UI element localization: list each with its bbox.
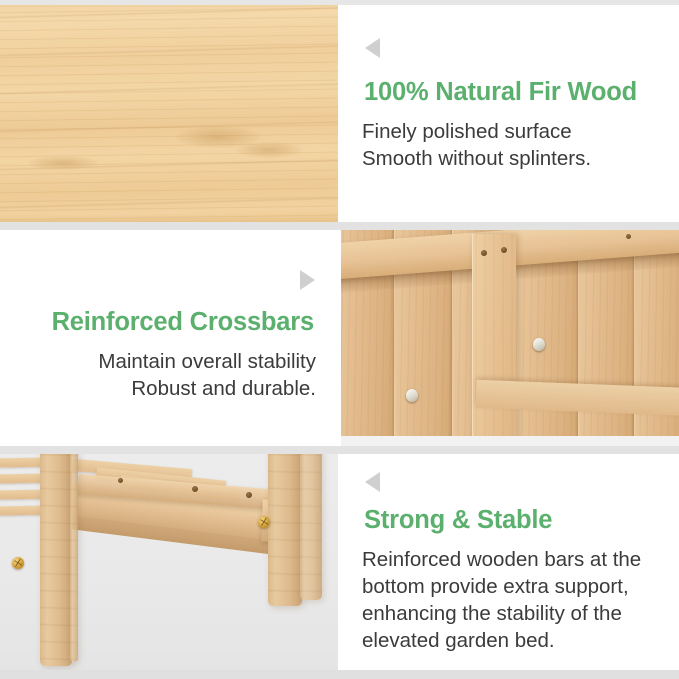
leg-left: [40, 452, 72, 666]
panel-body-line: enhancing the stability of the: [362, 600, 662, 627]
feature-infographic: 100% Natural Fir Wood Finely polished su…: [0, 0, 679, 679]
row-divider-1: [0, 222, 679, 230]
text-panel-natural-fir-wood: 100% Natural Fir Wood Finely polished su…: [340, 0, 679, 226]
wood-knot-3: [236, 142, 302, 158]
plank-screw-lower-left: [406, 389, 418, 402]
wood-knot-2: [28, 156, 98, 170]
fir-wood-grain-image: [0, 0, 340, 226]
top-slat: [0, 490, 44, 500]
photo-cell-legs-support: [0, 452, 340, 679]
triangle-right-icon: [300, 270, 315, 290]
beam-screw-hole: [246, 492, 252, 498]
text-panel-inner: Reinforced Crossbars Maintain overall st…: [0, 226, 340, 452]
text-panel-reinforced-crossbars: Reinforced Crossbars Maintain overall st…: [0, 226, 340, 452]
beam-screw-hole: [192, 486, 198, 492]
reinforcing-crossbar: [472, 234, 516, 452]
panel-body: Finely polished surface Smooth without s…: [362, 118, 591, 172]
plank-wall-crossbar-image: [340, 226, 679, 452]
triangle-left-icon: [365, 472, 380, 492]
photo-cell-fir-wood-grain: [0, 0, 340, 226]
panel-body-line: Maintain overall stability: [98, 348, 316, 375]
row-divider-2: [0, 446, 679, 454]
photo-cell-plank-crossbar: [340, 226, 679, 452]
panel-body: Reinforced wooden bars at the bottom pro…: [362, 546, 662, 654]
leg-left-back: [70, 452, 78, 662]
plank-screw-hole-right-top: [626, 234, 631, 239]
crossbar-screw-hole-top-left: [481, 250, 487, 256]
panel-headline: 100% Natural Fir Wood: [364, 78, 637, 107]
panel-headline: Strong & Stable: [364, 506, 552, 535]
legs-support-bars-image: [0, 452, 340, 679]
panel-body-line: Reinforced wooden bars at the: [362, 546, 662, 573]
leg-right-back: [300, 452, 322, 600]
text-panel-strong-and-stable: Strong & Stable Reinforced wooden bars a…: [340, 452, 679, 679]
brass-screw-left-leg: [12, 557, 24, 569]
panel-body-line: Robust and durable.: [98, 375, 316, 402]
panel-body-line: Smooth without splinters.: [362, 145, 591, 172]
column-divider: [338, 0, 341, 679]
top-slat: [0, 506, 42, 516]
crossbar-screw-hole-top-right: [501, 247, 507, 253]
panel-body: Maintain overall stability Robust and du…: [98, 348, 316, 402]
text-panel-inner: 100% Natural Fir Wood Finely polished su…: [340, 0, 679, 226]
panel-headline: Reinforced Crossbars: [52, 308, 314, 337]
panel-body-line: Finely polished surface: [362, 118, 591, 145]
triangle-left-icon: [365, 38, 380, 58]
crossbar-screw-middle: [533, 338, 545, 351]
text-panel-inner: Strong & Stable Reinforced wooden bars a…: [340, 452, 679, 679]
brass-screw-beam-end: [258, 516, 270, 528]
leg-right: [268, 452, 302, 606]
panel-body-line: elevated garden bed.: [362, 627, 662, 654]
bottom-edge-band: [0, 670, 679, 679]
top-edge-band: [0, 0, 679, 5]
slat-screw-hole: [118, 478, 123, 483]
panel-body-line: bottom provide extra support,: [362, 573, 662, 600]
